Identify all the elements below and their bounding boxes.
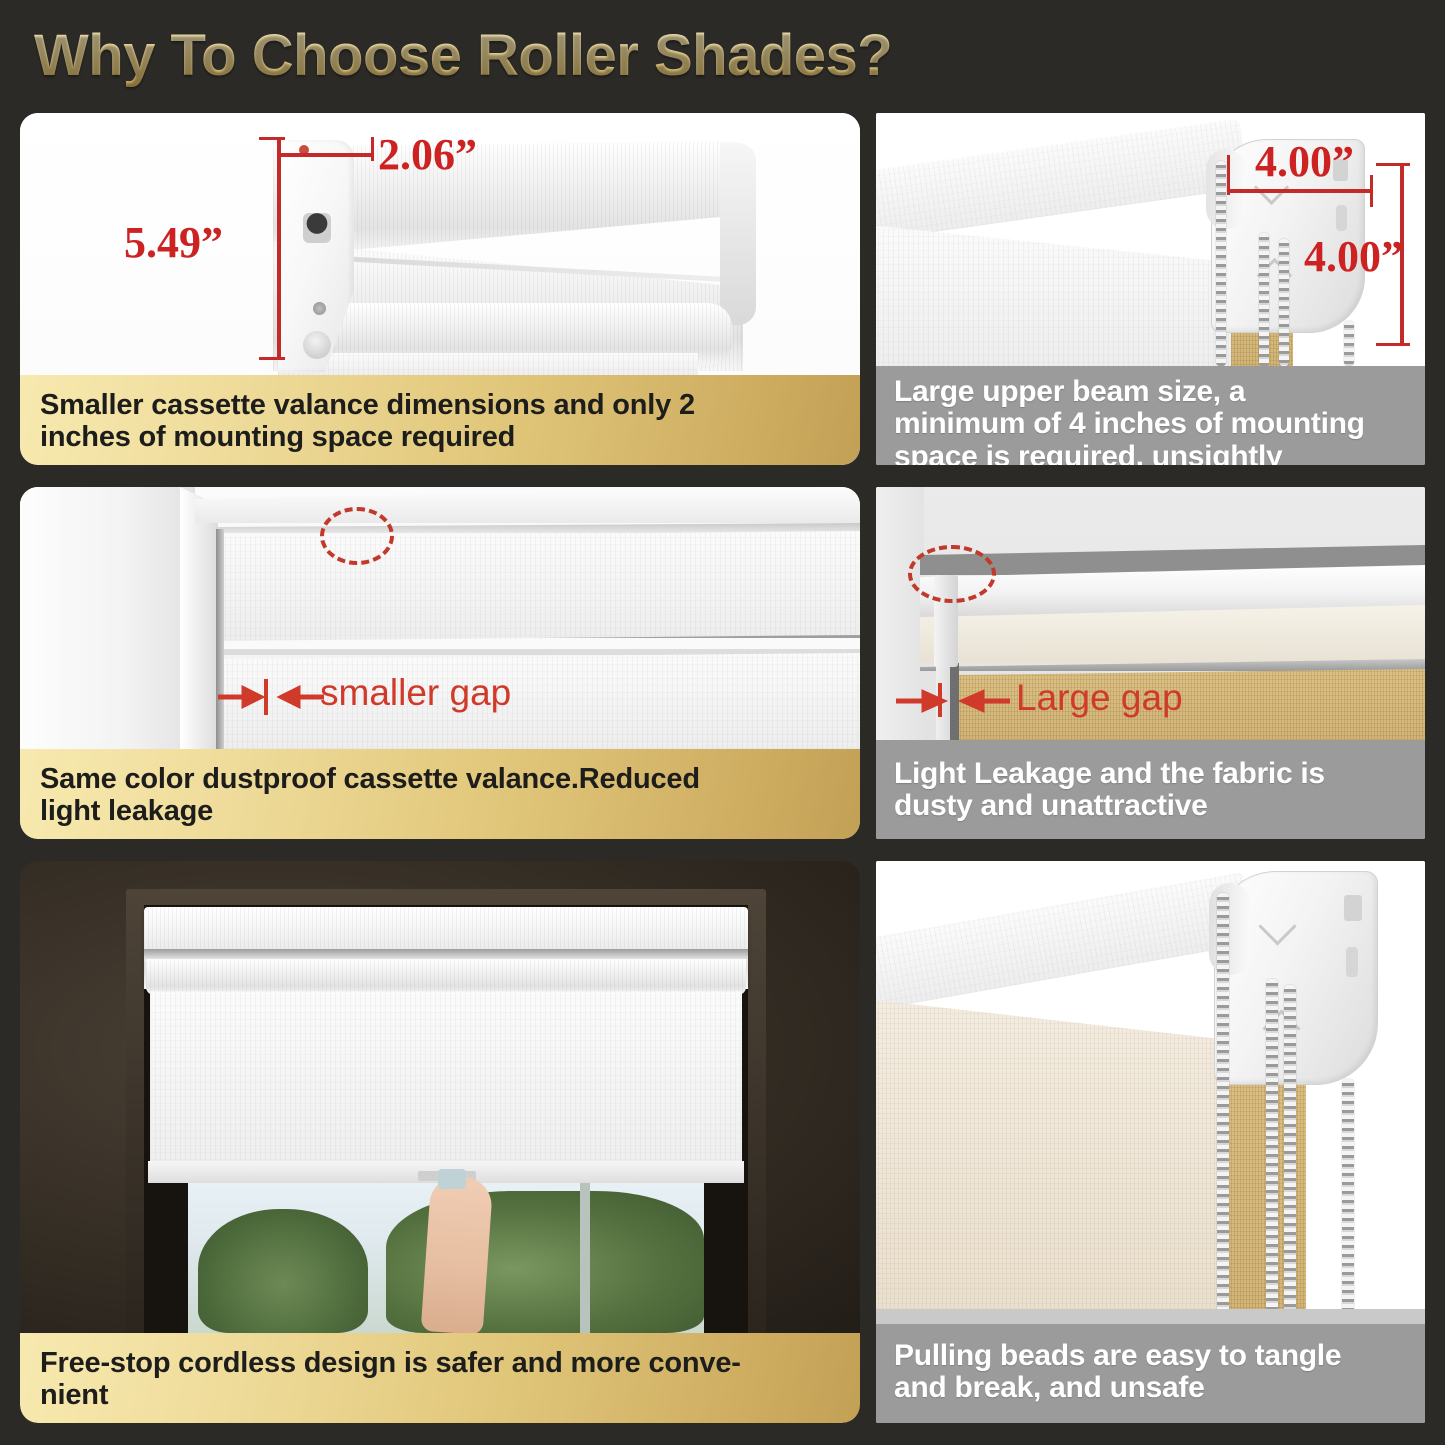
bead-chain-1: [1217, 893, 1229, 1324]
caption-bottom-right: Pulling beads are easy to tangle and bre…: [876, 1324, 1425, 1423]
caption-line: dusty and unattractive: [894, 790, 1325, 822]
caption-line: Same color dustproof cassette valance.Re…: [40, 763, 700, 795]
caption-bottom-left: Free-stop cordless design is safer and m…: [20, 1333, 860, 1423]
end-cap-lower-knob-icon: [303, 331, 331, 359]
caption-line: Smaller cassette valance dimensions and …: [40, 389, 695, 421]
gap-callout-label: Large gap: [1016, 677, 1183, 719]
caption-line: and break, and unsafe: [894, 1372, 1341, 1404]
panel-top-right: 4.00” 4.00” Large upper beam size, a min…: [876, 113, 1425, 465]
width-dimension-tick-right: [371, 137, 374, 161]
shade-fabric: [150, 991, 742, 1181]
gap-arrows-icon: [216, 680, 326, 714]
panel-top-left: 2.06” 5.49” Smaller cassette valance dim…: [20, 113, 860, 465]
shade-fabric-upper: [220, 531, 860, 643]
valance-right-cap: [720, 143, 756, 325]
page-title: Why To Choose Roller Shades?: [34, 22, 892, 89]
bead-chain-3: [1279, 239, 1289, 366]
caption-line: Large upper beam size, a: [894, 376, 1365, 408]
gap-marker-line: [264, 679, 268, 715]
caption-line: inches of mounting space required: [40, 421, 695, 453]
floor-shadow: [876, 1309, 1425, 1324]
bead-chain-4: [1344, 321, 1354, 366]
caption-line: nient: [40, 1379, 741, 1411]
bracket-width-tick-left: [1227, 155, 1230, 195]
tree-foliage-left: [198, 1209, 368, 1333]
gap-marker-line: [938, 683, 942, 717]
width-dimension-line: [278, 153, 374, 157]
bracket-slot-lower-icon: [1336, 205, 1347, 231]
bead-chain-2: [1259, 233, 1269, 366]
photo-cordless-shade-room: [20, 861, 860, 1333]
bracket-width-label: 4.00”: [1255, 136, 1354, 187]
caption-line: Pulling beads are easy to tangle: [894, 1340, 1341, 1372]
height-dimension-tick-top: [259, 137, 285, 140]
window-mullion: [580, 1181, 590, 1333]
hand-grip-knob-icon: [438, 1169, 466, 1189]
bead-chain-4: [1342, 1079, 1354, 1324]
shade-fabric-white: [876, 225, 1240, 366]
panel-bottom-left: Free-stop cordless design is safer and m…: [20, 861, 860, 1423]
shade-fabric-beige: [876, 999, 1238, 1324]
caption-line: light leakage: [40, 795, 700, 827]
window-frame-inner-edge: [180, 487, 218, 749]
shade-fabric-bottom: [278, 353, 698, 375]
photo-window-small-gap: smaller gap: [20, 487, 860, 749]
bracket-height-tick-bottom: [1376, 343, 1410, 346]
caption-line: space is required, unsightly: [894, 441, 1365, 465]
panel-middle-left: smaller gap Same color dustproof cassett…: [20, 487, 860, 839]
roller-tube: [876, 118, 1249, 240]
caption-middle-right: Light Leakage and the fabric is dusty an…: [876, 740, 1425, 839]
shade-side-edge: [216, 529, 224, 749]
caption-line: Light Leakage and the fabric is: [894, 758, 1325, 790]
hand-pulling-shade: [421, 1175, 494, 1333]
height-dimension-label: 5.49”: [124, 217, 223, 268]
bracket-width-tick-right: [1370, 175, 1373, 207]
window-frame-left: [20, 487, 195, 749]
bracket-slot-upper-icon: [1344, 895, 1362, 921]
bead-chain-3: [1284, 985, 1296, 1324]
infographic-page: Why To Choose Roller Shades? 2.06”: [0, 0, 1445, 1445]
bracket-height-tick-top: [1376, 163, 1410, 166]
photo-large-bracket: 4.00” 4.00”: [876, 113, 1425, 366]
end-cap-slot-icon: [303, 213, 331, 243]
end-cap-screw-icon: [313, 302, 326, 315]
bracket-height-label: 4.00”: [1304, 231, 1403, 282]
bracket-slot-lower-icon: [1346, 947, 1358, 977]
window-frame-top: [195, 487, 860, 523]
roller-tube: [876, 872, 1256, 1011]
gap-arrows-icon: [894, 685, 1012, 717]
panel-bottom-right: Pulling beads are easy to tangle and bre…: [876, 861, 1425, 1423]
photo-bead-chain-shade: [876, 861, 1425, 1324]
height-dimension-line: [277, 137, 281, 359]
width-dimension-label: 2.06”: [378, 129, 477, 180]
bracket-roller-disc: [1209, 883, 1251, 975]
bead-chain-1: [1216, 161, 1226, 366]
caption-line: minimum of 4 inches of mounting: [894, 408, 1365, 440]
caption-top-right: Large upper beam size, a minimum of 4 in…: [876, 366, 1425, 465]
panel-middle-right: Large gap Light Leakage and the fabric i…: [876, 487, 1425, 839]
bead-chain-2: [1266, 979, 1278, 1324]
height-dimension-tick-bottom: [259, 357, 285, 360]
caption-line: Free-stop cordless design is safer and m…: [40, 1347, 741, 1379]
shade-top-rail: [216, 523, 860, 533]
photo-window-large-gap: Large gap: [876, 487, 1425, 740]
cassette-lower-roll: [146, 959, 746, 995]
bracket-width-dimension-line: [1227, 189, 1373, 193]
gap-callout-label: smaller gap: [320, 672, 511, 714]
gap-highlight-circle: [908, 545, 996, 603]
caption-top-left: Smaller cassette valance dimensions and …: [20, 375, 860, 465]
caption-middle-left: Same color dustproof cassette valance.Re…: [20, 749, 860, 839]
photo-cassette-valance: 2.06” 5.49”: [20, 113, 860, 375]
gap-highlight-circle: [320, 507, 394, 565]
